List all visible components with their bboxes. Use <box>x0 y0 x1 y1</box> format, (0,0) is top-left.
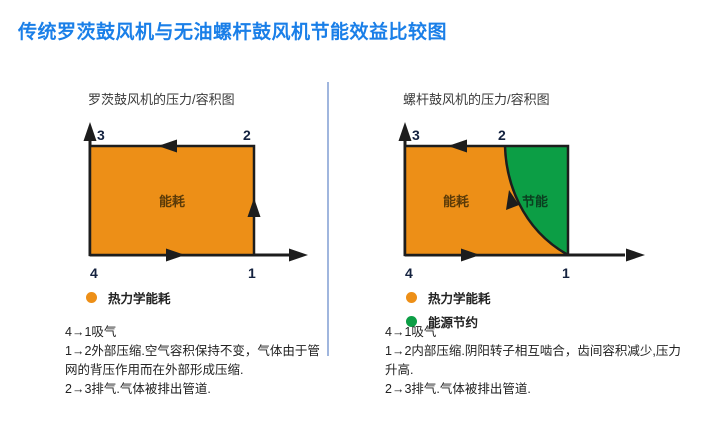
pressure-volume-diagram-screw: 能耗 节能 3 2 4 1 <box>380 118 680 283</box>
panel-subtitle-screw: 螺杆鼓风机的压力/容积图 <box>403 89 550 108</box>
notes-screw: 4→1吸气 1→2内部压缩.阴阳转子相互啮合，齿间容积减少,压力升高. 2→3排… <box>385 323 685 399</box>
saving-region-label: 节能 <box>522 194 548 209</box>
note-line: 2→3排气.气体被排出管道. <box>385 380 685 399</box>
note-line: 4→1吸气 <box>385 323 685 342</box>
note-line: 1→2内部压缩.阴阳转子相互啮合，齿间容积减少,压力升高. <box>385 342 685 380</box>
note-line: 2→3排气.气体被排出管道. <box>65 380 327 399</box>
y-axis-arrow-icon <box>84 122 97 141</box>
legend-item-label: 热力学能耗 <box>108 288 171 307</box>
corner-label-top-left: 3 <box>412 127 420 143</box>
corner-label-top-right: 2 <box>498 127 506 143</box>
corner-label-bottom-left: 4 <box>405 265 413 281</box>
note-line: 1→2外部压缩.空气容积保持不变，气体由于管网的背压作用而在外部形成压缩. <box>65 342 327 380</box>
energy-region-label: 能耗 <box>443 194 469 209</box>
energy-region-label: 能耗 <box>159 194 185 209</box>
notes-roots: 4→1吸气 1→2外部压缩.空气容积保持不变，气体由于管网的背压作用而在外部形成… <box>65 323 327 399</box>
note-line: 4→1吸气 <box>65 323 327 342</box>
panel-divider <box>327 82 329 356</box>
legend-item: 热力学能耗 <box>406 288 491 307</box>
x-axis-arrow-icon <box>626 249 645 262</box>
page-title: 传统罗茨鼓风机与无油螺杆鼓风机节能效益比较图 <box>18 17 447 44</box>
corner-label-bottom-right: 1 <box>248 265 256 281</box>
legend-roots: 热力学能耗 <box>86 288 171 312</box>
panel-subtitle-roots: 罗茨鼓风机的压力/容积图 <box>88 89 235 108</box>
x-axis-arrow-icon <box>289 249 308 262</box>
legend-item: 热力学能耗 <box>86 288 171 307</box>
corner-label-top-left: 3 <box>97 127 105 143</box>
legend-item-label: 热力学能耗 <box>428 288 491 307</box>
orange-dot-icon <box>86 292 97 303</box>
pressure-volume-diagram-roots: 能耗 3 2 4 1 <box>60 118 325 283</box>
y-axis-arrow-icon <box>399 122 412 141</box>
corner-label-top-right: 2 <box>243 127 251 143</box>
corner-label-bottom-left: 4 <box>90 265 98 281</box>
orange-dot-icon <box>406 292 417 303</box>
corner-label-bottom-right: 1 <box>562 265 570 281</box>
